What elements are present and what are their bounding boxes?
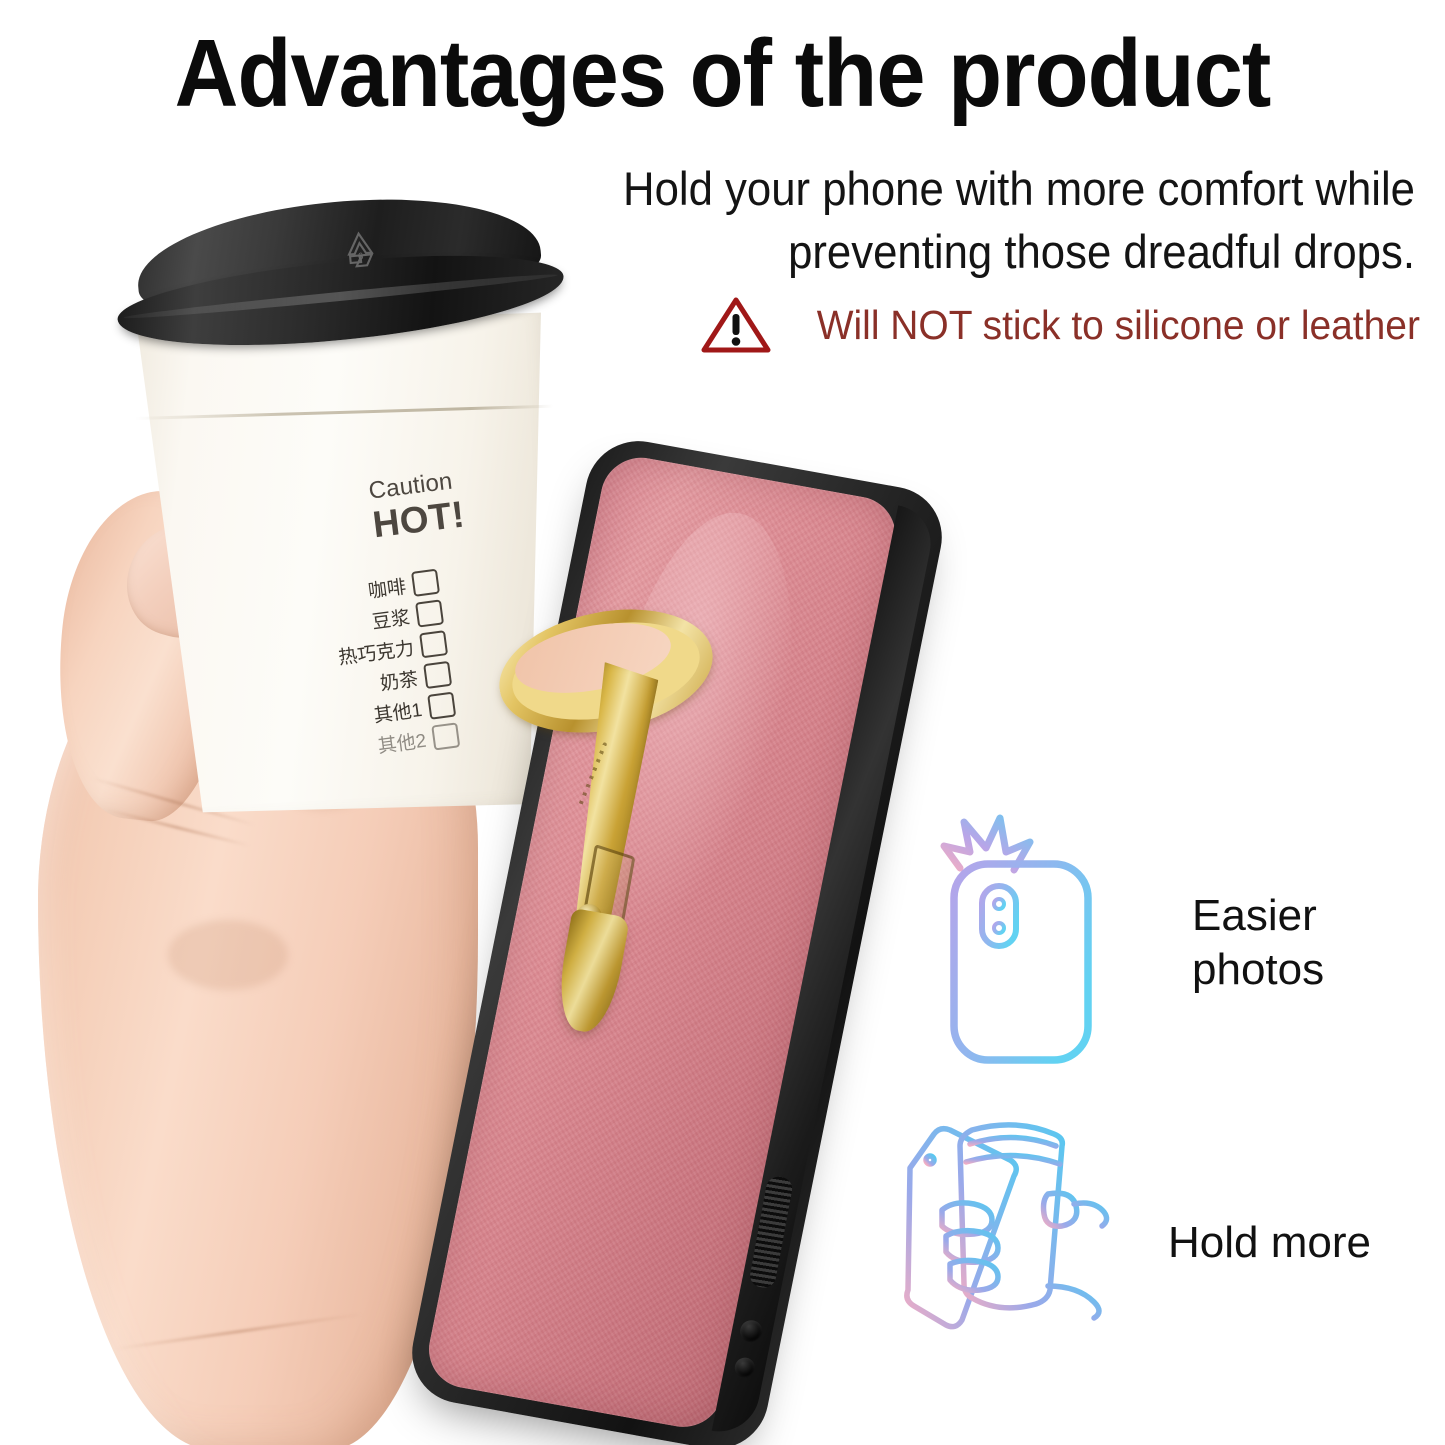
recycling-symbol-icon: 6	[339, 229, 380, 272]
checkbox-icon	[423, 661, 452, 689]
subtitle-line-2: preventing those dreadful drops.	[536, 221, 1415, 284]
page-subtitle: Hold your phone with more comfort while …	[536, 158, 1415, 283]
feature-label: Easier photos	[1192, 889, 1324, 996]
cup-caution-print: Caution HOT!	[367, 469, 466, 544]
checkbox-icon	[415, 599, 444, 627]
checklist-label: 奶茶	[378, 664, 419, 696]
checklist-label: 其他1	[372, 695, 424, 728]
warning-triangle-icon	[701, 296, 771, 354]
checklist-label: 咖啡	[366, 572, 407, 604]
kickstand-foot	[552, 908, 630, 1036]
product-advantage-infographic: 6 Caution HOT! 咖啡 豆浆 热巧克力 奶茶	[0, 0, 1445, 1445]
gold-ring-holder	[480, 612, 700, 1032]
subtitle-line-1: Hold your phone with more comfort while	[536, 158, 1415, 221]
hand-holding-phone-and-cup-icon	[888, 1108, 1138, 1378]
checkbox-icon	[411, 569, 440, 597]
checklist-label: 豆浆	[370, 603, 411, 635]
cup-lid: 6	[95, 183, 583, 370]
warning-text: Will NOT stick to silicone or leather	[817, 302, 1420, 349]
checkbox-icon	[427, 692, 456, 720]
phone-with-flash-icon	[930, 808, 1130, 1078]
feature-label: Hold more	[1168, 1216, 1371, 1270]
feature-easier-photos: Easier photos	[930, 808, 1324, 1078]
checkbox-icon	[419, 630, 448, 658]
feature-hold-more: Hold more	[888, 1108, 1371, 1378]
page-title: Advantages of the product	[58, 26, 1387, 122]
checkbox-icon	[431, 722, 460, 750]
svg-text:6: 6	[358, 251, 364, 262]
warning-notice: Will NOT stick to silicone or leather	[720, 296, 1420, 354]
checklist-label: 其他2	[376, 726, 428, 759]
knuckle-shadow	[168, 920, 288, 990]
